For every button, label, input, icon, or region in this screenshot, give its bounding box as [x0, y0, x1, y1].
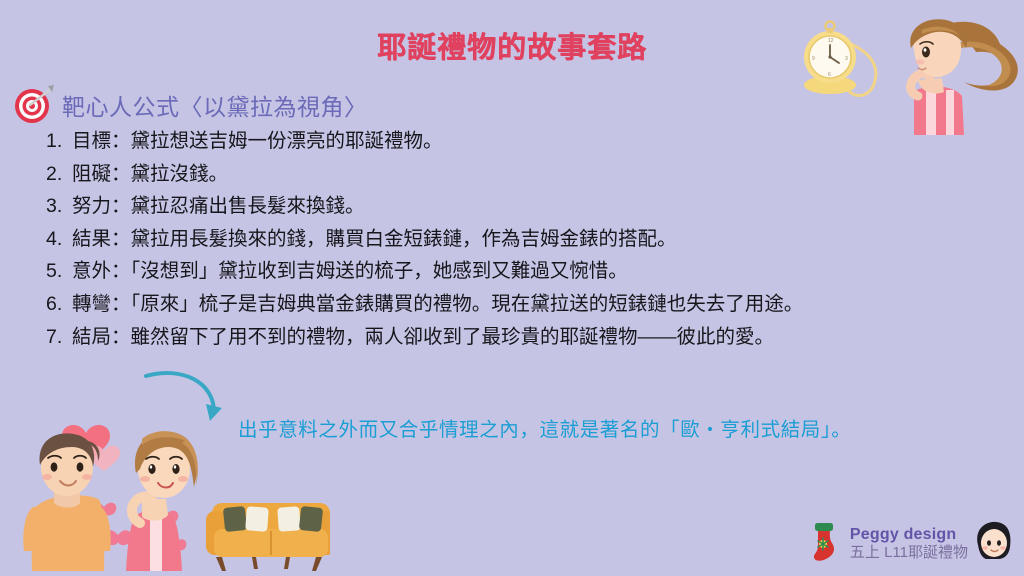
section-heading-label: 靶心人公式〈以黛拉為視角〉 — [62, 88, 368, 122]
list-item-number: 7. — [46, 321, 72, 354]
list-item-number: 1. — [46, 125, 72, 158]
brand-name: Peggy design — [850, 526, 968, 544]
list-item-number: 3. — [46, 190, 72, 223]
list-item-text: 結果：黛拉用長髮換來的錢，購買白金短錶鏈，作為吉姆金錶的搭配。 — [72, 223, 677, 256]
list-item: 5. 意外：「沒想到」黛拉收到吉姆送的梳子，她感到又難過又惋惜。 — [46, 255, 1024, 288]
slide-canvas: 123 69 — [0, 0, 1024, 576]
section-heading: 靶心人公式〈以黛拉為視角〉 — [12, 84, 368, 126]
footer-branding: Peggy design 五上 L11耶誕禮物 — [810, 519, 1014, 568]
bottom-left-illustration — [0, 411, 330, 576]
list-item-number: 2. — [46, 158, 72, 191]
brand-subtitle: 五上 L11耶誕禮物 — [850, 544, 968, 561]
story-formula-list: 1. 目標：黛拉想送吉姆一份漂亮的耶誕禮物。 2. 阻礙：黛拉沒錢。 3. 努力… — [46, 125, 1024, 353]
list-item: 7. 結局：雖然留下了用不到的禮物，兩人卻收到了最珍貴的耶誕禮物——彼此的愛。 — [46, 321, 1024, 354]
list-item-text: 意外：「沒想到」黛拉收到吉姆送的梳子，她感到又難過又惋惜。 — [72, 255, 628, 288]
list-item-number: 4. — [46, 223, 72, 256]
top-right-illustration: 123 69 — [794, 0, 1024, 140]
list-item-text: 目標：黛拉想送吉姆一份漂亮的耶誕禮物。 — [72, 125, 443, 158]
conclusion-text: 出乎意料之外而又合乎情理之內，這就是著名的「歐・亨利式結局」。 — [238, 413, 851, 442]
list-item: 1. 目標：黛拉想送吉姆一份漂亮的耶誕禮物。 — [46, 125, 1024, 158]
list-item: 2. 阻礙：黛拉沒錢。 — [46, 158, 1024, 191]
list-item: 4. 結果：黛拉用長髮換來的錢，購買白金短錶鏈，作為吉姆金錶的搭配。 — [46, 223, 1024, 256]
list-item-text: 阻礙：黛拉沒錢。 — [72, 158, 228, 191]
girl-avatar-icon — [974, 519, 1014, 568]
slide-title: 耶誕禮物的故事套路 — [0, 24, 1024, 66]
svg-text:6: 6 — [828, 72, 831, 78]
list-item-number: 5. — [46, 255, 72, 288]
list-item: 3. 努力：黛拉忍痛出售長髮來換錢。 — [46, 190, 1024, 223]
list-item-text: 結局：雖然留下了用不到的禮物，兩人卻收到了最珍貴的耶誕禮物——彼此的愛。 — [72, 321, 774, 354]
list-item-text: 轉彎：「原來」梳子是吉姆典當金錶購買的禮物。現在黛拉送的短錶鏈也失去了用途。 — [72, 288, 803, 321]
target-dartboard-icon — [12, 84, 54, 126]
list-item: 6. 轉彎：「原來」梳子是吉姆典當金錶購買的禮物。現在黛拉送的短錶鏈也失去了用途… — [46, 288, 1024, 321]
list-item-number: 6. — [46, 288, 72, 321]
footer-text-block: Peggy design 五上 L11耶誕禮物 — [850, 526, 968, 562]
list-item-text: 努力：黛拉忍痛出售長髮來換錢。 — [72, 190, 365, 223]
christmas-stocking-icon — [810, 519, 844, 568]
